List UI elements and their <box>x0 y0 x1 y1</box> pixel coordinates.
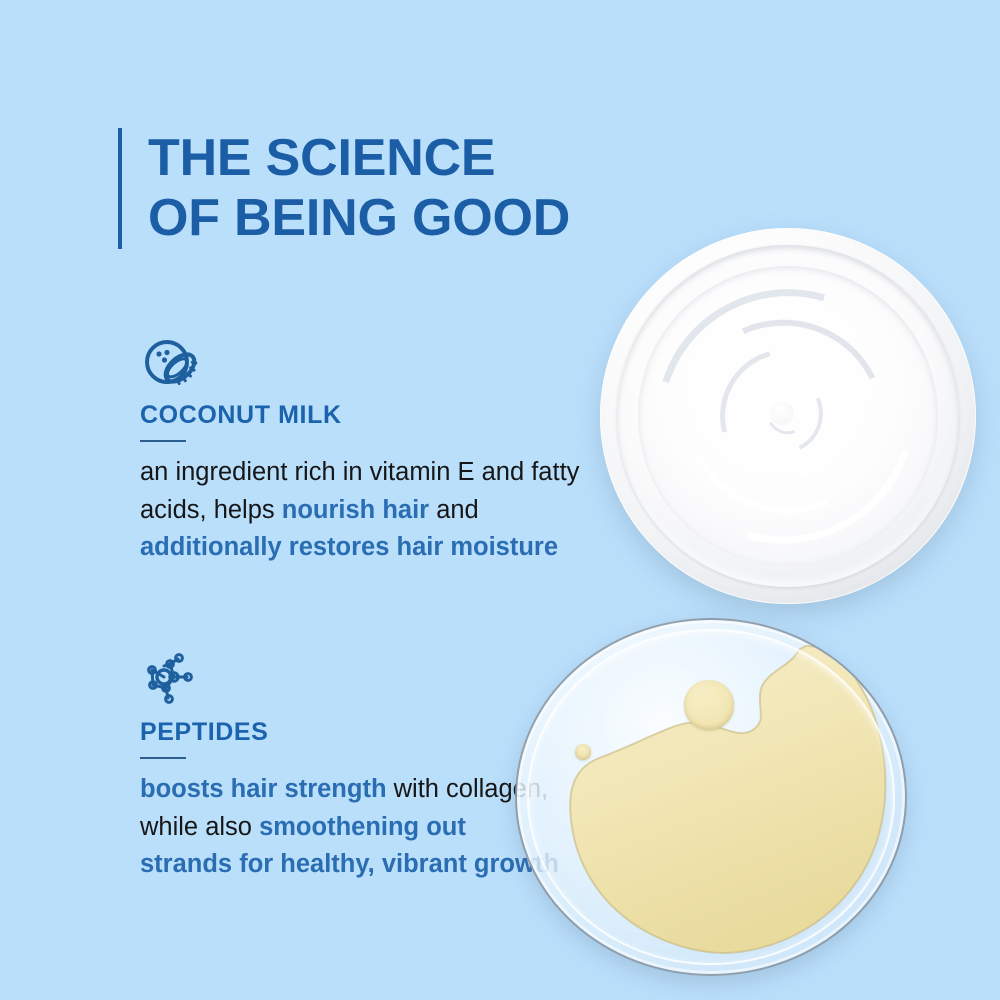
peptide-molecule-icon <box>140 652 202 708</box>
section-title-peptides: PEPTIDES <box>140 718 560 747</box>
section-title-coconut-milk: COCONUT MILK <box>140 401 580 430</box>
body-run-emphasis: nourish hair <box>282 496 429 524</box>
headline-accent-bar <box>118 128 122 249</box>
section-divider <box>140 440 186 442</box>
section-body-peptides: boosts hair strength with collagen, whil… <box>140 771 560 884</box>
body-run-emphasis: boosts hair strength <box>140 775 387 803</box>
petri-dish-rim <box>527 629 896 965</box>
body-run-emphasis: additionally restores hair moisture <box>140 533 558 561</box>
page-title: THE SCIENCE OF BEING GOOD <box>148 128 570 249</box>
coconut-icon <box>140 335 202 391</box>
section-divider <box>140 757 186 759</box>
body-run: and <box>429 496 479 524</box>
petri-dish-oil-image <box>515 618 907 976</box>
section-body-coconut-milk: an ingredient rich in vitamin E and fatt… <box>140 454 580 567</box>
ingredient-section-peptides: PEPTIDES boosts hair strength with colla… <box>140 652 560 884</box>
headline-block: THE SCIENCE OF BEING GOOD <box>118 128 570 249</box>
cream-swirl-center <box>770 401 794 425</box>
ingredient-section-coconut-milk: COCONUT MILK an ingredient rich in vitam… <box>140 335 580 567</box>
promo-graphic: THE SCIENCE OF BEING GOOD COCONUT MILK <box>0 0 1000 1000</box>
cream-surface <box>638 266 939 567</box>
cream-swirl-image <box>600 228 976 604</box>
